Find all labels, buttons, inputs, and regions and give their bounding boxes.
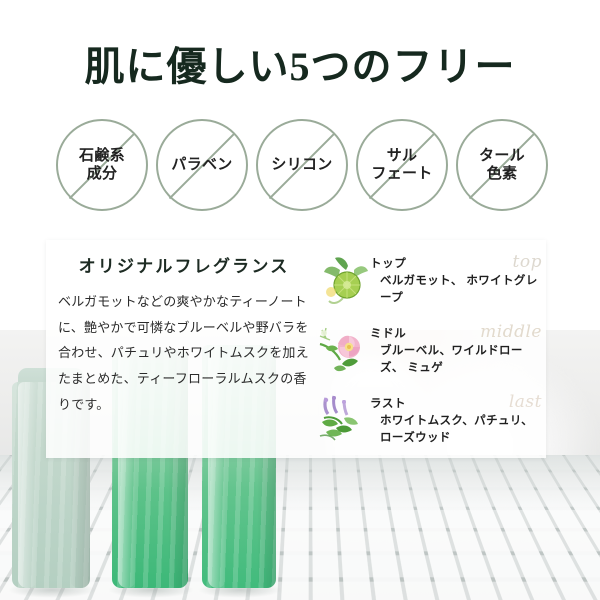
- free-claim-label: シリコン: [271, 156, 332, 174]
- free-claim-label: タール 色素: [479, 147, 525, 182]
- note-script-top: top: [513, 252, 542, 272]
- free-claim-label: パラベン: [171, 156, 232, 174]
- promo-banner: 肌に優しい5つのフリー 石鹸系 成分 パラベン シリコン サル フェート タール…: [0, 0, 600, 600]
- fragrance-note-last: ラスト ホワイトムスク、パチュリ、 ローズウッド last: [318, 394, 540, 450]
- fragrance-note-top: トップ ベルガモット、 ホワイトグレープ top: [318, 254, 540, 310]
- free-claim-label: サル フェート: [371, 147, 432, 182]
- free-claim-soap: 石鹸系 成分: [56, 119, 148, 211]
- fragrance-description-block: オリジナルフレグランス ベルガモットなどの爽やかなティーノートに、艶やかで可憐な…: [58, 252, 310, 418]
- fragrance-note-middle: ミドル ブルーベル、ワイルドローズ、 ミュゲ middle: [318, 324, 540, 380]
- bottle-gloss: [18, 382, 37, 588]
- note-items: ホワイトムスク、パチュリ、 ローズウッド: [370, 413, 540, 448]
- note-script-last: last: [509, 392, 542, 412]
- free-claim-label: 石鹸系 成分: [79, 147, 125, 182]
- note-script-middle: middle: [480, 322, 542, 342]
- page-title: 肌に優しい5つのフリー: [0, 34, 600, 92]
- free-claim-sulfate: サル フェート: [356, 119, 448, 211]
- fragrance-panel: オリジナルフレグランス ベルガモットなどの爽やかなティーノートに、艶やかで可憐な…: [46, 240, 546, 458]
- free-claims-row: 石鹸系 成分 パラベン シリコン サル フェート タール 色素: [56, 117, 548, 213]
- free-claim-paraben: パラベン: [156, 119, 248, 211]
- free-claim-tar-dye: タール 色素: [456, 119, 548, 211]
- free-claim-silicone: シリコン: [256, 119, 348, 211]
- note-items: ベルガモット、 ホワイトグレープ: [370, 273, 540, 308]
- fragrance-heading: オリジナルフレグランス: [58, 252, 310, 277]
- note-items: ブルーベル、ワイルドローズ、 ミュゲ: [370, 343, 540, 378]
- tile-shading: [0, 455, 600, 600]
- mosaic-tile-table: [0, 455, 600, 600]
- fragrance-body-text: ベルガモットなどの爽やかなティーノートに、艶やかで可憐なブルーベルや野バラを合わ…: [58, 289, 310, 418]
- bergamot-citrus-icon: [318, 254, 370, 308]
- patchouli-lavender-icon: [318, 394, 370, 448]
- fragrance-notes-list: トップ ベルガモット、 ホワイトグレープ top: [318, 254, 540, 464]
- wild-rose-icon: [318, 324, 370, 378]
